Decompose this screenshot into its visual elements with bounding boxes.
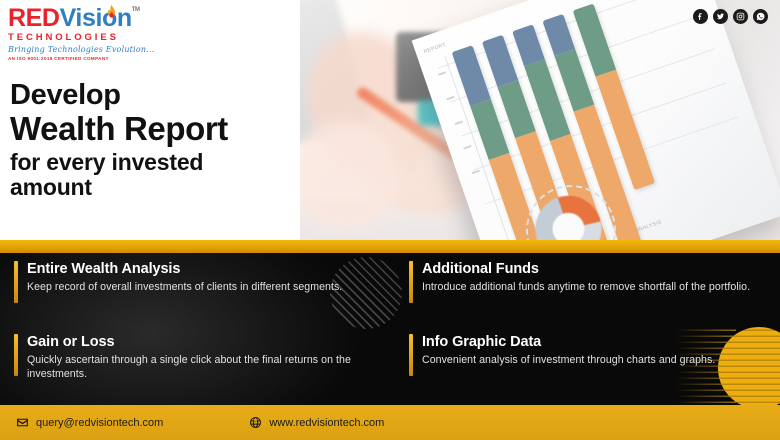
envelope-icon xyxy=(16,416,29,429)
feature-item-1: Entire Wealth Analysis Keep record of ov… xyxy=(14,261,354,303)
headline: Develop Wealth Report for every invested… xyxy=(10,80,228,201)
footer-email-text: query@redvisiontech.com xyxy=(36,417,163,429)
whatsapp-icon[interactable] xyxy=(753,9,768,24)
flame-icon xyxy=(104,4,119,26)
footer-website-text: www.redvisiontech.com xyxy=(269,417,384,429)
feature-item-2: Gain or Loss Quickly ascertain through a… xyxy=(14,334,354,382)
logo-tagline: Bringing Technologies Evolution... xyxy=(8,45,188,54)
social-links[interactable] xyxy=(693,9,768,24)
logo-tm-mark: TM xyxy=(132,7,140,13)
bar-segment-blue xyxy=(452,45,491,106)
feature-accent-bar xyxy=(409,334,413,376)
feature-accent-bar xyxy=(409,261,413,303)
feature-description: Introduce additional funds anytime to re… xyxy=(422,280,750,295)
feature-description: Quickly ascertain through a single click… xyxy=(27,353,354,382)
bar-segment-blue xyxy=(482,35,518,88)
logo-vision-text: Vision xyxy=(60,4,132,32)
feature-title: Info Graphic Data xyxy=(422,334,715,351)
features-section: Entire Wealth Analysis Keep record of ov… xyxy=(0,253,780,405)
headline-line-1: Develop xyxy=(10,80,228,111)
feature-title: Additional Funds xyxy=(422,261,750,278)
footer-email[interactable]: query@redvisiontech.com xyxy=(16,416,163,429)
logo-subtitle: TECHNOLOGIES xyxy=(8,32,188,43)
gold-divider xyxy=(0,240,780,253)
footer-website[interactable]: www.redvisiontech.com xyxy=(249,416,384,429)
feature-description: Keep record of overall investments of cl… xyxy=(27,280,342,295)
bar-segment-green xyxy=(497,80,535,138)
feature-title: Gain or Loss xyxy=(27,334,354,351)
feature-description: Convenient analysis of investment throug… xyxy=(422,353,715,368)
twitter-icon[interactable] xyxy=(713,9,728,24)
advertisement-banner: REPORT ANALYSIS R xyxy=(0,0,780,440)
feature-accent-bar xyxy=(14,261,18,303)
logo-red-text: RED xyxy=(8,4,60,32)
logo-wordmark: REDVisionTM xyxy=(8,6,188,31)
logo-iso-line: AN ISO 9001:2015 CERTIFIED COMPANY xyxy=(8,56,188,61)
feature-item-4: Info Graphic Data Convenient analysis of… xyxy=(409,334,754,376)
headline-line-3: for every invested xyxy=(10,150,228,176)
feature-accent-bar xyxy=(14,334,18,376)
facebook-icon[interactable] xyxy=(693,9,708,24)
headline-line-2: Wealth Report xyxy=(10,112,228,147)
globe-icon xyxy=(249,416,262,429)
feature-title: Entire Wealth Analysis xyxy=(27,261,342,278)
headline-line-4: amount xyxy=(10,175,228,201)
hero-photo: REPORT ANALYSIS xyxy=(300,0,780,248)
feature-item-3: Additional Funds Introduce additional fu… xyxy=(409,261,754,303)
instagram-icon[interactable] xyxy=(733,9,748,24)
footer-bar: query@redvisiontech.com www.redvisiontec… xyxy=(0,405,780,440)
hero-section: REPORT ANALYSIS R xyxy=(0,0,780,248)
company-logo: REDVisionTM TECHNOLOGIES Bringing Techno… xyxy=(8,6,188,61)
